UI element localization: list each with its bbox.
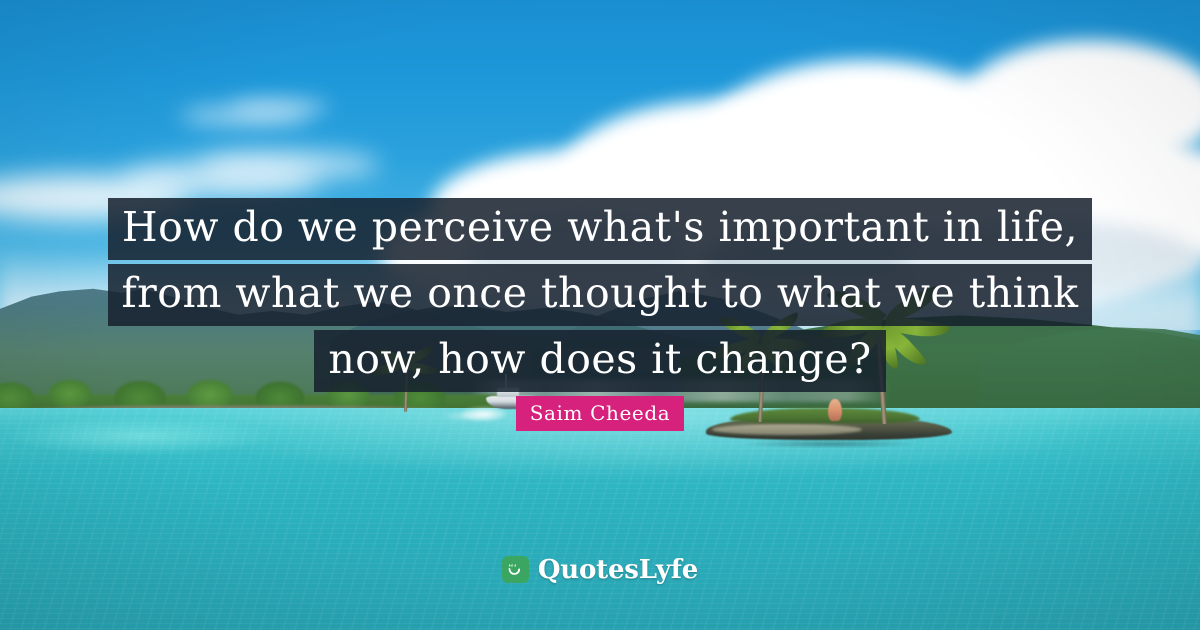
quote-line-row: from what we once thought to what we thi… — [0, 264, 1200, 326]
quote-line-3: now, how does it change? — [314, 330, 885, 392]
cloud-wisp — [200, 150, 380, 180]
quote-line-1: How do we perceive what's important in l… — [108, 198, 1092, 260]
author-badge-wrap: Saim Cheeda — [0, 396, 1200, 431]
quote-line-row: How do we perceive what's important in l… — [0, 198, 1200, 260]
logo-wordmark: QuotesLyfe — [538, 557, 698, 583]
quote-line-2: from what we once thought to what we thi… — [108, 264, 1093, 326]
water-ripples — [0, 408, 1200, 630]
cloud-wisp — [230, 98, 330, 116]
quote-smiley-icon — [502, 556, 529, 583]
site-logo[interactable]: QuotesLyfe — [0, 556, 1200, 583]
quote-block: How do we perceive what's important in l… — [0, 198, 1200, 392]
quote-image-canvas: How do we perceive what's important in l… — [0, 0, 1200, 630]
quote-line-row: now, how does it change? — [0, 330, 1200, 392]
author-name-badge: Saim Cheeda — [516, 396, 685, 431]
